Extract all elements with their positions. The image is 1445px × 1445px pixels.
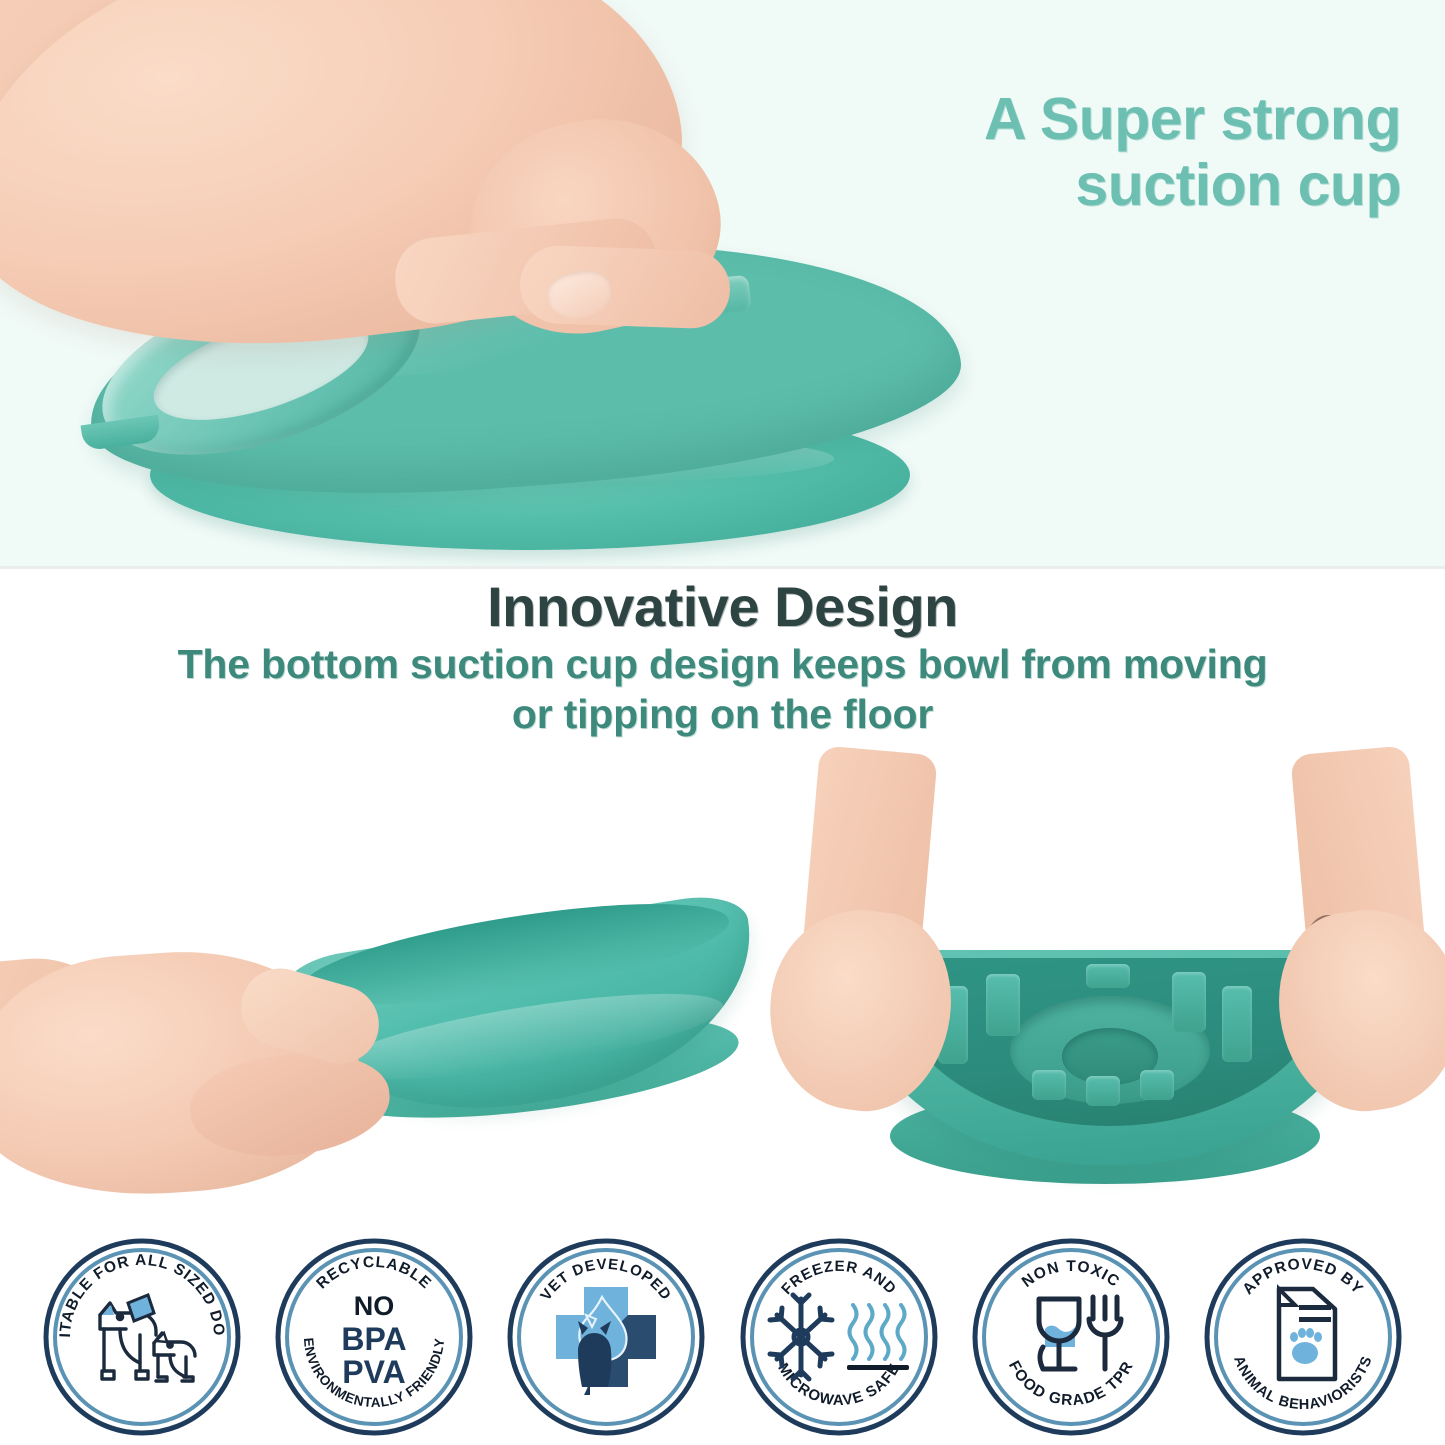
badge-vet-developed: VET DEVELOPED bbox=[506, 1237, 706, 1437]
surface-bar bbox=[847, 1365, 909, 1370]
photo-bowl-flexed bbox=[780, 760, 1445, 1210]
badge-freezer-and-microwave-safe: FREEZER AND MICROWAVE SAFE bbox=[739, 1237, 939, 1437]
certification-badge-row: SUITABLE FOR ALL SIZED DOGS bbox=[0, 1228, 1445, 1445]
badge-center-line-1: NO bbox=[354, 1291, 395, 1321]
maze-nub bbox=[1140, 1070, 1174, 1100]
badge-center-line-3: PVA bbox=[342, 1354, 405, 1390]
hero-headline: A Super strong suction cup bbox=[781, 86, 1401, 218]
badge-approved-by-animal-behaviorists: APPROVED BY ANIMAL BEHAVIORISTS bbox=[1203, 1237, 1403, 1437]
hero-panel: A Super strong suction cup bbox=[0, 0, 1445, 568]
badge-non-toxic-food-grade-tpr: NON TOXIC FOOD GRADE TPR bbox=[971, 1237, 1171, 1437]
section-subtitle: The bottom suction cup design keeps bowl… bbox=[0, 639, 1445, 739]
badge-center-line-2: BPA bbox=[342, 1321, 407, 1357]
maze-nub bbox=[1172, 972, 1206, 1032]
mid-text-block: Innovative Design The bottom suction cup… bbox=[0, 578, 1445, 739]
section-title: Innovative Design bbox=[0, 578, 1445, 635]
maze-nub bbox=[986, 974, 1020, 1036]
panel-divider bbox=[0, 566, 1445, 569]
badge-suitable-for-all-sized-dogs: SUITABLE FOR ALL SIZED DOGS bbox=[42, 1237, 242, 1437]
photo-bowl-tilted bbox=[0, 905, 760, 1205]
maze-nub bbox=[1222, 986, 1252, 1062]
document-paw-icon bbox=[1279, 1289, 1335, 1379]
maze-nub bbox=[1086, 1076, 1120, 1106]
maze-nub bbox=[1086, 964, 1130, 988]
badge-recyclable-no-bpa-pva: RECYCLABLE ENVIRONMENTALLY FRIENDLY NO B… bbox=[274, 1237, 474, 1437]
maze-nub bbox=[1032, 1070, 1066, 1100]
product-infographic: A Super strong suction cup Innovative De… bbox=[0, 0, 1445, 1445]
